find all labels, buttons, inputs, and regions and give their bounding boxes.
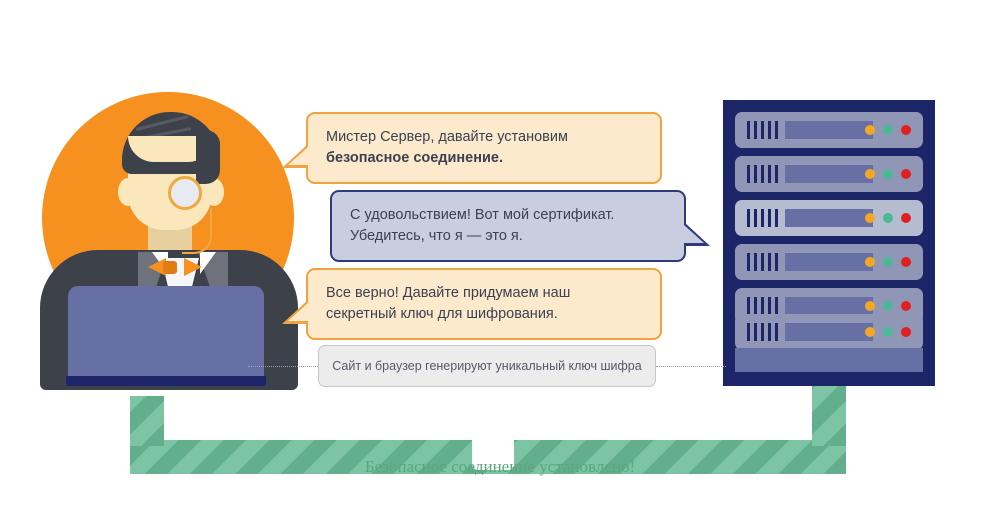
bubble-1-line-1: Мистер Сервер, давайте установим <box>326 129 568 145</box>
server-display-bar <box>785 323 873 341</box>
server-unit <box>735 244 923 280</box>
page-caption: Безопасное соединение установлено! <box>0 457 1000 477</box>
server-led-group <box>865 257 911 267</box>
character-collar-right <box>200 252 216 274</box>
bubble-3-tail-inner <box>288 303 308 321</box>
key-generation-note-text: Сайт и браузер генерируют уникальный клю… <box>332 359 641 373</box>
secure-pipe-left-riser <box>130 396 164 446</box>
character-hair-side <box>196 130 220 184</box>
server-vents-icon <box>747 165 778 183</box>
monocle-chain <box>182 208 212 254</box>
server-vents-icon <box>747 323 778 341</box>
character-bowtie-knot <box>163 261 177 274</box>
server-rack-base-panel <box>735 348 923 372</box>
server-led-group <box>865 213 911 223</box>
bubble-3-line-2: секретный ключ для шифрования. <box>326 306 558 322</box>
laptop-base <box>66 376 266 386</box>
server-led-group <box>865 327 911 337</box>
character-bowtie-right <box>184 258 202 276</box>
server-led-group <box>865 169 911 179</box>
infographic-canvas: Мистер Сервер, давайте установим безопас… <box>0 0 1000 523</box>
server-display-bar <box>785 209 873 227</box>
speech-bubble-secret-key: Все верно! Давайте придумаем наш секретн… <box>306 268 662 340</box>
speech-bubble-certificate: С удовольствием! Вот мой сертификат. Убе… <box>330 190 686 262</box>
server-led-group <box>865 301 911 311</box>
speech-bubble-request: Мистер Сервер, давайте установим безопас… <box>306 112 662 184</box>
key-generation-note: Сайт и браузер генерируют уникальный клю… <box>318 345 656 387</box>
bubble-2-line-1: С удовольствием! Вот мой сертификат. <box>350 207 614 223</box>
server-display-bar <box>785 121 873 139</box>
server-display-bar <box>785 297 873 315</box>
server-unit <box>735 156 923 192</box>
server-led-group <box>865 125 911 135</box>
server-display-bar <box>785 165 873 183</box>
monocle-icon <box>168 176 202 210</box>
server-rack <box>723 100 935 386</box>
bubble-1-line-2-bold: безопасное соединение. <box>326 150 503 166</box>
server-vents-icon <box>747 209 778 227</box>
bubble-2-line-2: Убедитесь, что я — это я. <box>350 228 523 244</box>
server-vents-icon <box>747 297 778 315</box>
server-unit <box>735 314 923 350</box>
secure-pipe-right-riser <box>812 376 846 446</box>
server-unit <box>735 200 923 236</box>
bubble-3-line-1: Все верно! Давайте придумаем наш <box>326 285 570 301</box>
bubble-2-tail-inner <box>684 225 704 243</box>
dotted-connector-right <box>656 366 726 367</box>
server-vents-icon <box>747 253 778 271</box>
server-unit <box>735 112 923 148</box>
bubble-1-tail-inner <box>288 147 308 165</box>
server-display-bar <box>785 253 873 271</box>
laptop-screen <box>68 286 264 378</box>
dotted-connector-left <box>248 366 318 367</box>
server-vents-icon <box>747 121 778 139</box>
